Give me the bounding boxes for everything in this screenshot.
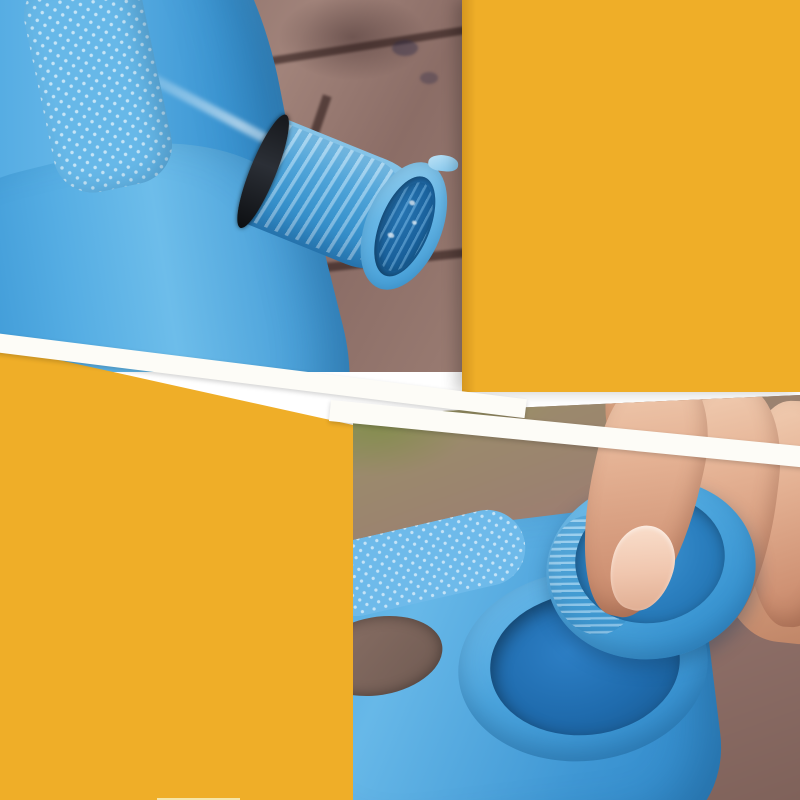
feature-02-text-panel: 02 Water inlet cover Effectively prevent… xyxy=(0,330,353,800)
feature-01-text-panel: 01 Sealing rubber ring Good sealing perf… xyxy=(462,0,800,392)
product-feature-infographic: 01 Sealing rubber ring Good sealing perf… xyxy=(0,0,800,800)
feature-01-photo xyxy=(0,0,470,372)
paving-speckle xyxy=(420,72,438,84)
paving-speckle xyxy=(392,40,418,56)
